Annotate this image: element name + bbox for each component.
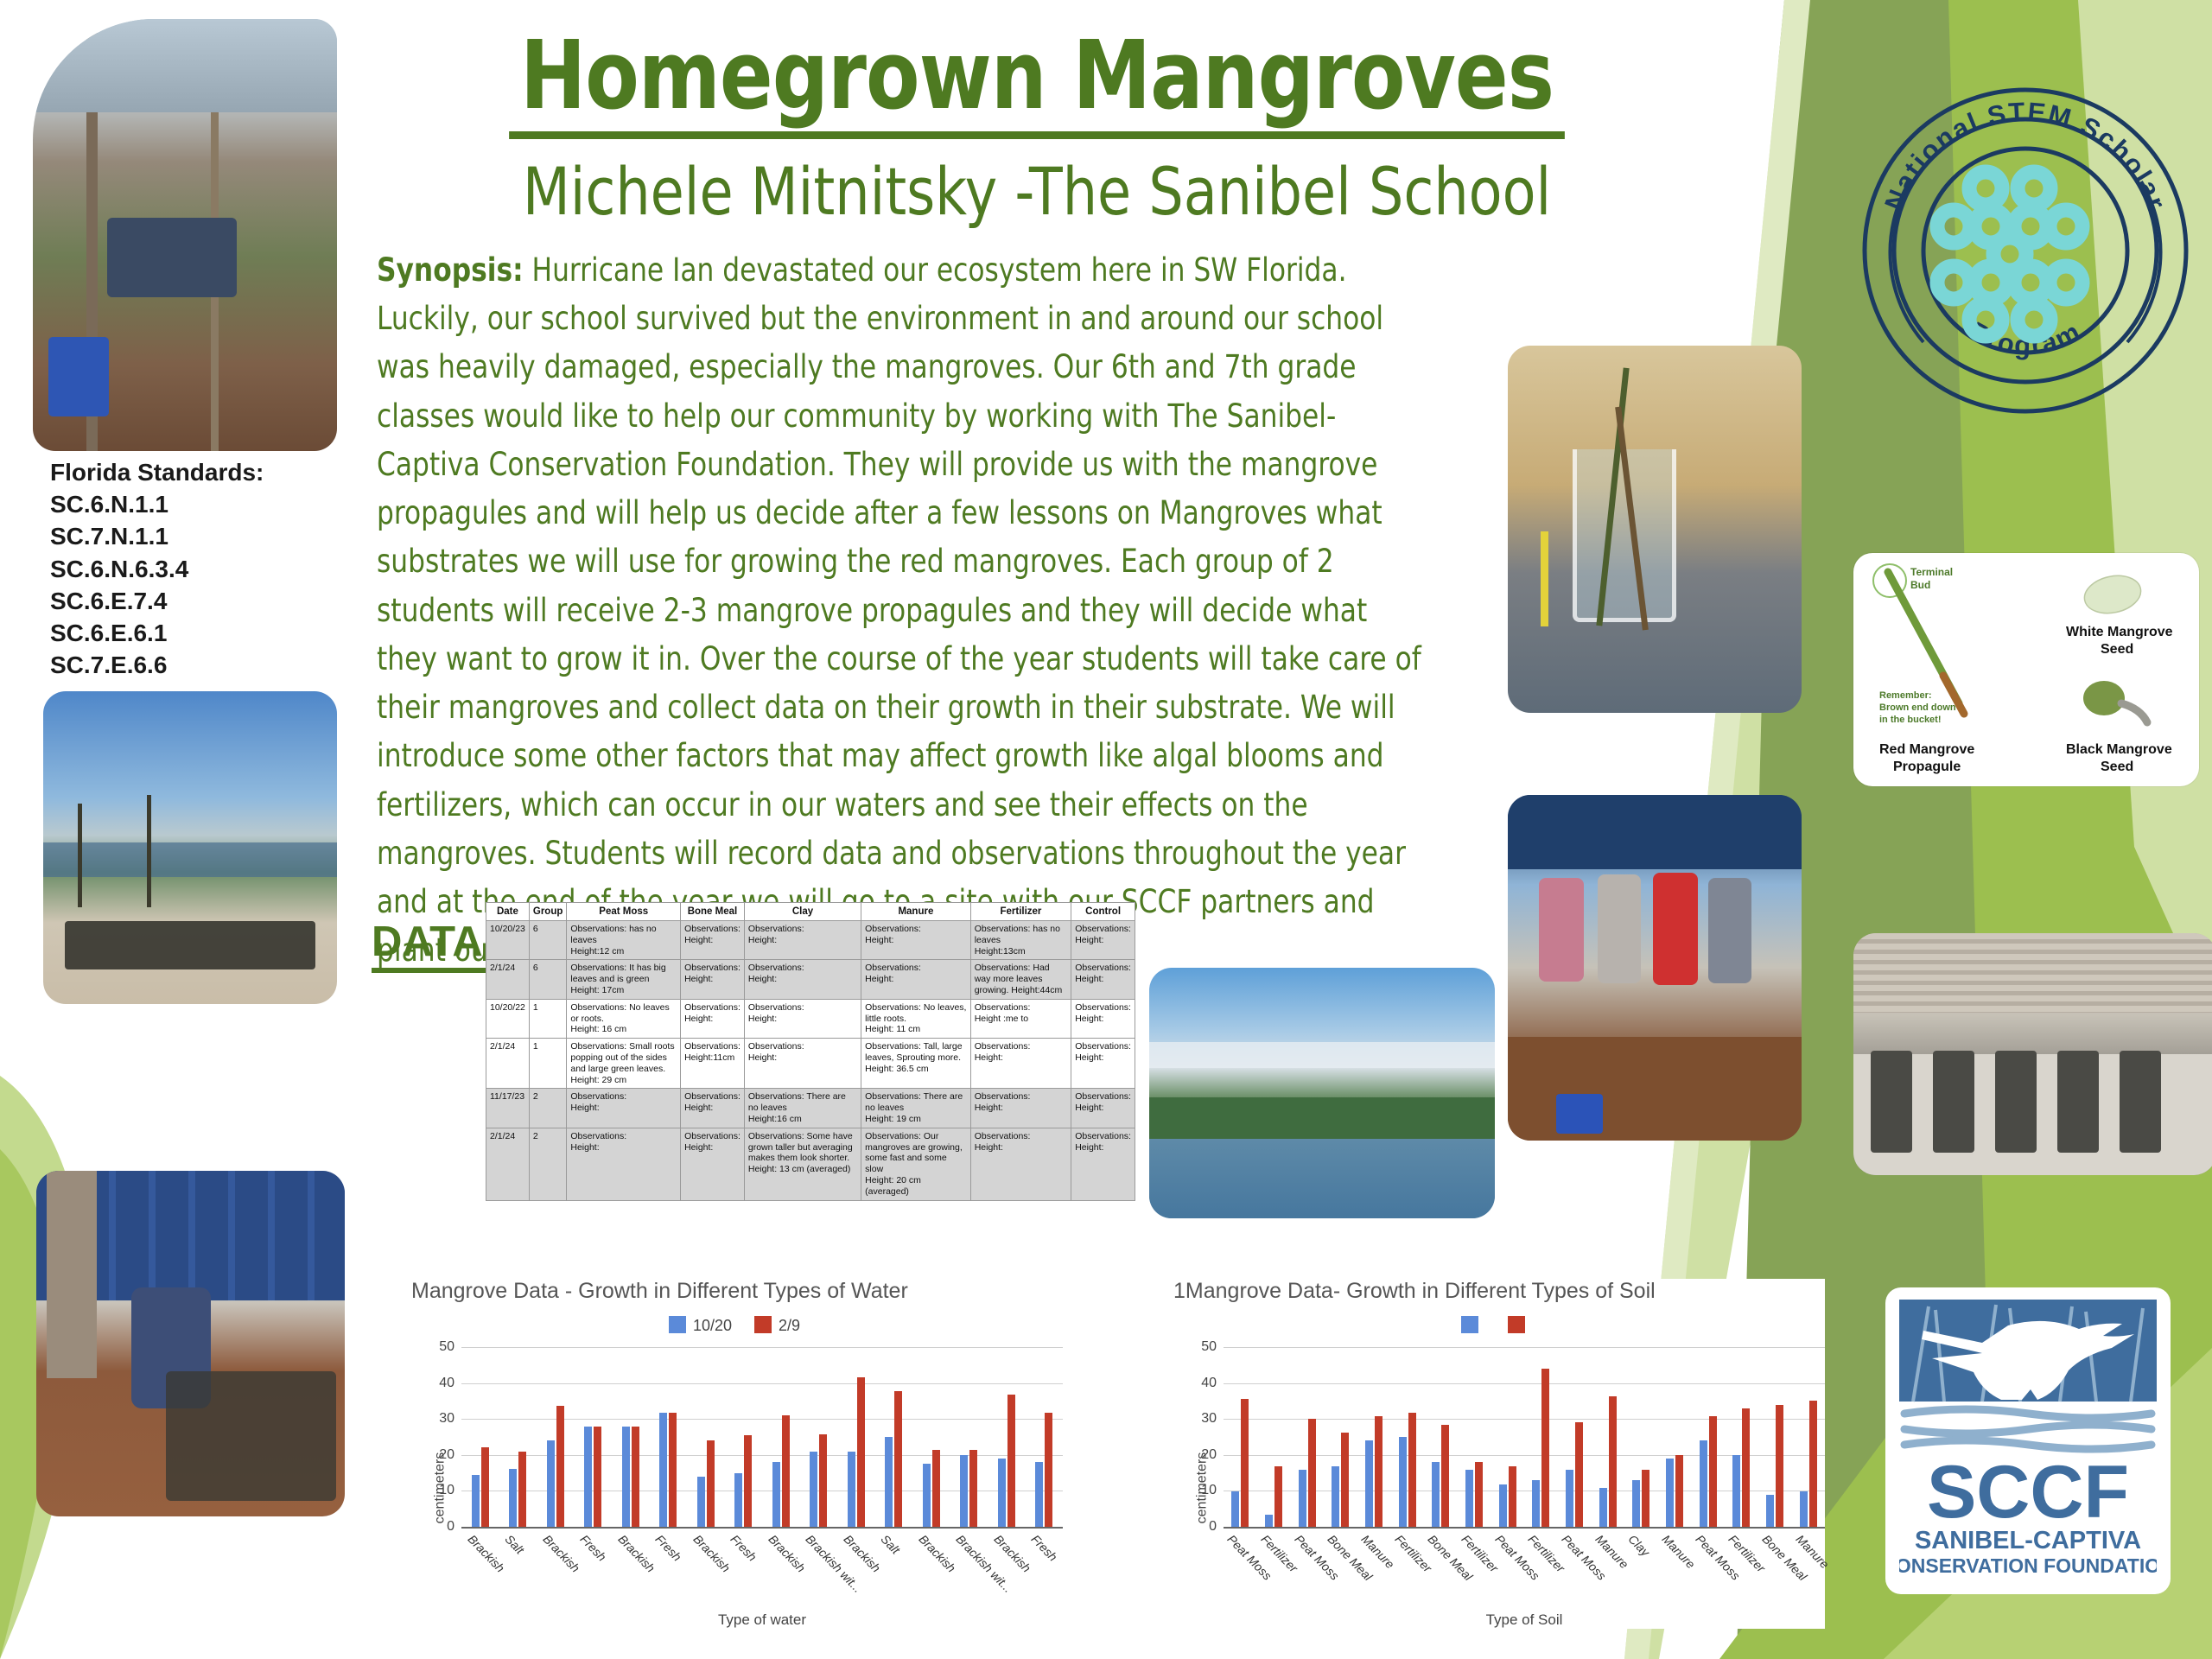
chart-y-tick-label: 10 — [1201, 1483, 1217, 1498]
chart-bar-series2 — [1308, 1419, 1316, 1527]
chart-bar-series1 — [1800, 1491, 1808, 1527]
chart-bar-group — [875, 1347, 913, 1527]
table-cell-fertilizer: Observations:Height: — [970, 1089, 1071, 1128]
table-cell-date: 10/20/23 — [486, 921, 530, 960]
chart-bar-series2 — [669, 1413, 677, 1527]
chart-bar-series1 — [1766, 1495, 1774, 1527]
chart-bar-group — [1324, 1347, 1357, 1527]
chart-bar-series2 — [1809, 1401, 1817, 1527]
chart-bar-series2 — [1776, 1405, 1783, 1527]
standard-item: SC.6.E.7.4 — [50, 585, 335, 617]
table-cell-fertilizer: Observations:Height :me to — [970, 999, 1071, 1038]
table-column-header: Fertilizer — [970, 903, 1071, 921]
chart-bar-group — [1725, 1347, 1758, 1527]
photo-indoor-trays — [1853, 933, 2212, 1175]
chart-bar-series1 — [1566, 1470, 1573, 1527]
table-cell-group: 1 — [529, 1039, 567, 1089]
chart-x-tick-label: Fresh — [728, 1532, 760, 1564]
chart-bar-group — [1424, 1347, 1458, 1527]
black-mangrove-seed-stem — [2121, 703, 2147, 722]
chart-bar-group — [612, 1347, 650, 1527]
legend-item: 2/9 — [754, 1316, 800, 1335]
chart-bar-series2 — [1609, 1396, 1617, 1527]
chart-bar-series2 — [594, 1427, 601, 1527]
chart-bar-group — [1558, 1347, 1592, 1527]
table-cell-date: 10/20/22 — [486, 999, 530, 1038]
chart-bar-series1 — [509, 1469, 517, 1527]
chart-bar-series1 — [1332, 1466, 1339, 1527]
chart-bar-group — [1624, 1347, 1658, 1527]
standard-item: SC.6.N.6.3.4 — [50, 553, 335, 585]
chart-bar-series1 — [1499, 1484, 1507, 1527]
chart-x-tick-label: Salt — [503, 1532, 527, 1556]
chart-bar-group — [1658, 1347, 1692, 1527]
chart-bar-series1 — [1632, 1480, 1640, 1527]
legend-item: 10/20 — [669, 1316, 732, 1335]
black-mangrove-label-line1: Black Mangrove — [2066, 742, 2172, 757]
table-cell-control: Observations:Height: — [1071, 921, 1135, 960]
standard-item: SC.7.N.1.1 — [50, 520, 335, 552]
table-cell-date: 2/1/24 — [486, 1128, 530, 1200]
chart-bar-group — [762, 1347, 800, 1527]
chart-x-tick-label: Brackish — [540, 1532, 582, 1575]
chart-bar-series2 — [969, 1450, 977, 1527]
chart-x-tick-label: Fresh — [653, 1532, 684, 1564]
table-cell-peat-moss: Observations: It has big leaves and is g… — [567, 960, 681, 999]
chart-y-tick-label: 0 — [1209, 1519, 1217, 1535]
chart-x-tick-label: Salt — [879, 1532, 903, 1556]
chart-bar-series1 — [1035, 1462, 1043, 1527]
table-cell-manure: Observations: There are no leavesHeight:… — [861, 1089, 971, 1128]
chart-bar-series1 — [923, 1464, 931, 1527]
logo-molecule-icon — [1937, 172, 2082, 336]
table-row: 11/17/232Observations:Height:Observation… — [486, 1089, 1135, 1128]
legend-swatch-series1 — [669, 1316, 686, 1333]
chart-x-tick-label: Fresh — [578, 1532, 609, 1564]
chart-bar-series1 — [1599, 1488, 1607, 1527]
table-cell-clay: Observations:Height: — [744, 999, 861, 1038]
chart-bar-series1 — [1465, 1470, 1473, 1527]
sccf-line1: SANIBEL-CAPTIVA — [1915, 1527, 2141, 1554]
table-cell-peat-moss: Observations:Height: — [567, 1089, 681, 1128]
chart-x-tick-label: Brackish — [615, 1532, 658, 1575]
chart-bar-group — [499, 1347, 537, 1527]
white-mangrove-label-line2: Seed — [2101, 642, 2133, 657]
chart-bar-series1 — [1399, 1437, 1407, 1527]
chart-y-tick-label: 30 — [439, 1411, 454, 1427]
table-column-header: Control — [1071, 903, 1135, 921]
chart-x-tick-label: Clay — [1626, 1532, 1653, 1559]
chart-bar-series2 — [744, 1435, 752, 1527]
chart-bar-series1 — [810, 1452, 817, 1527]
chart-y-tick-label: 10 — [439, 1483, 454, 1498]
white-mangrove-seed-icon — [2081, 571, 2144, 619]
chart-bar-series1 — [1231, 1491, 1239, 1527]
table-cell-control: Observations:Height: — [1071, 1089, 1135, 1128]
chart-bar-series1 — [622, 1427, 630, 1527]
chart-bar-group — [1390, 1347, 1424, 1527]
table-cell-manure: Observations: Our mangroves are growing,… — [861, 1128, 971, 1200]
chart-bars — [461, 1347, 1063, 1527]
chart-bar-series1 — [472, 1475, 480, 1527]
table-cell-control: Observations:Height: — [1071, 960, 1135, 999]
chart-bar-series2 — [1509, 1466, 1516, 1527]
black-mangrove-label-line2: Seed — [2101, 760, 2133, 774]
red-mangrove-label-line2: Propagule — [1893, 760, 1961, 774]
chart-bar-series1 — [772, 1462, 780, 1527]
legend-swatch-series1 — [1461, 1316, 1478, 1333]
table-cell-manure: Observations:Height: — [861, 960, 971, 999]
table-cell-manure: Observations: No leaves, little roots.He… — [861, 999, 971, 1038]
chart-bar-series2 — [1045, 1413, 1052, 1527]
legend-label-series2: 2/9 — [779, 1317, 800, 1334]
chart-bar-series1 — [1700, 1440, 1707, 1527]
chart-bar-series1 — [697, 1477, 705, 1527]
standard-item: SC.6.E.6.1 — [50, 617, 335, 649]
chart-bar-series2 — [1541, 1369, 1549, 1527]
chart-bar-series2 — [1007, 1395, 1015, 1528]
chart-bar-series2 — [518, 1452, 526, 1527]
observations-table: DateGroupPeat MossBone MealClayManureFer… — [486, 902, 1135, 1201]
table-column-header: Peat Moss — [567, 903, 681, 921]
chart-soil-legend — [1168, 1316, 1825, 1335]
chart-bar-group — [1524, 1347, 1558, 1527]
black-mangrove-seed-icon — [2083, 681, 2125, 715]
chart-bar-group — [1458, 1347, 1491, 1527]
chart-bar-series1 — [584, 1427, 592, 1527]
sccf-wave-lines-icon — [1904, 1409, 2152, 1449]
chart-soil: 1Mangrove Data- Growth in Different Type… — [1168, 1279, 1825, 1629]
table-column-header: Bone Meal — [681, 903, 745, 921]
chart-bar-series2 — [1575, 1422, 1583, 1527]
chart-bar-series1 — [659, 1413, 667, 1527]
chart-bar-group — [800, 1347, 838, 1527]
sccf-logo: SCCF SANIBEL-CAPTIVA CONSERVATION FOUNDA… — [1885, 1287, 2171, 1594]
legend-label-series1: 10/20 — [693, 1317, 732, 1334]
table-cell-control: Observations:Height: — [1071, 1128, 1135, 1200]
chart-bar-series2 — [1241, 1399, 1249, 1528]
chart-bar-series1 — [1299, 1470, 1306, 1527]
legend-swatch-series2 — [1508, 1316, 1525, 1333]
photo-estuary-landscape — [1149, 968, 1495, 1218]
white-mangrove-label-line1: White Mangrove — [2066, 625, 2173, 639]
remember-line3: in the bucket! — [1879, 715, 1942, 725]
chart-y-tick-label: 0 — [447, 1519, 454, 1535]
chart-bar-series2 — [1475, 1462, 1483, 1527]
chart-bar-group — [1224, 1347, 1257, 1527]
chart-bar-series1 — [960, 1455, 968, 1527]
chart-bar-series1 — [848, 1452, 855, 1527]
chart-bar-series2 — [707, 1440, 715, 1527]
remember-line2: Brown end down — [1879, 702, 1956, 713]
photo-students-outside — [1508, 795, 1802, 1141]
table-cell-group: 6 — [529, 960, 567, 999]
chart-bar-group — [1491, 1347, 1524, 1527]
chart-y-tick-label: 30 — [1201, 1411, 1217, 1427]
chart-bar-series2 — [481, 1447, 489, 1527]
table-cell-peat-moss: Observations:Height: — [567, 1128, 681, 1200]
poster-canvas: National STEM Scholar Program Homegrown … — [0, 0, 2212, 1659]
chart-water-plot: 01020304050 — [461, 1347, 1063, 1529]
chart-bar-series2 — [1375, 1416, 1382, 1527]
table-cell-peat-moss: Observations: No leaves or roots.Height:… — [567, 999, 681, 1038]
chart-y-tick-label: 50 — [439, 1339, 454, 1355]
chart-soil-plot-area: centimeters 01020304050 Peat MossFertili… — [1168, 1347, 1825, 1629]
table-cell-bone-meal: Observations:Height:11cm — [681, 1039, 745, 1089]
table-cell-bone-meal: Observations:Height: — [681, 999, 745, 1038]
chart-bar-series2 — [894, 1391, 902, 1527]
table-cell-manure: Observations:Height: — [861, 921, 971, 960]
table-column-header: Date — [486, 903, 530, 921]
chart-bar-series2 — [857, 1377, 865, 1527]
photo-shoreline-mangroves — [43, 691, 337, 1004]
table-cell-clay: Observations: There are no leavesHeight:… — [744, 1089, 861, 1128]
photo-lab-beaker-propagules — [1508, 346, 1802, 713]
table-cell-group: 6 — [529, 921, 567, 960]
table-cell-control: Observations:Height: — [1071, 1039, 1135, 1089]
chart-y-tick-label: 40 — [439, 1376, 454, 1391]
table-cell-bone-meal: Observations:Height: — [681, 1128, 745, 1200]
legend-swatch-series2 — [754, 1316, 772, 1333]
table-cell-date: 2/1/24 — [486, 1039, 530, 1089]
chart-x-tick-label: Brackish — [690, 1532, 733, 1575]
table-column-header: Clay — [744, 903, 861, 921]
chart-bars — [1224, 1347, 1825, 1527]
table-cell-group: 2 — [529, 1089, 567, 1128]
chart-y-tick-label: 20 — [439, 1447, 454, 1463]
chart-bar-group — [912, 1347, 950, 1527]
chart-bar-group — [1357, 1347, 1391, 1527]
mangrove-identification-card: Terminal Bud Remember: Brown end down in… — [1853, 553, 2199, 786]
florida-standards-list: Florida Standards: SC.6.N.1.1 SC.7.N.1.1… — [50, 456, 335, 682]
chart-bar-group — [988, 1347, 1026, 1527]
chart-soil-xlabel: Type of Soil — [1224, 1611, 1825, 1629]
photo-greenhouse-student — [33, 19, 337, 451]
table-cell-group: 2 — [529, 1128, 567, 1200]
chart-bar-series2 — [1441, 1425, 1449, 1527]
chart-water-xlabel: Type of water — [461, 1611, 1063, 1629]
page-subtitle: Michele Mitnitsky -The Sanibel School — [491, 153, 1584, 230]
title-block: Homegrown Mangroves Michele Mitnitsky -T… — [449, 26, 1624, 230]
page-title: Homegrown Mangroves — [509, 26, 1565, 139]
sccf-acronym: SCCF — [1927, 1451, 2129, 1534]
chart-bar-series1 — [547, 1440, 555, 1527]
chart-bar-series1 — [734, 1473, 742, 1527]
chart-bar-series2 — [556, 1406, 564, 1527]
chart-bar-group — [687, 1347, 725, 1527]
chart-bar-series1 — [1265, 1515, 1273, 1527]
standard-item: SC.6.N.1.1 — [50, 488, 335, 520]
table-row: 10/20/236Observations: has no leavesHeig… — [486, 921, 1135, 960]
chart-bar-group — [537, 1347, 575, 1527]
table-row: 2/1/242Observations:Height:Observations:… — [486, 1128, 1135, 1200]
chart-y-tick-label: 40 — [1201, 1376, 1217, 1391]
national-stem-scholar-logo: National STEM Scholar Program — [1856, 35, 2195, 441]
chart-bar-series2 — [1408, 1413, 1416, 1527]
terminal-bud-label-line1: Terminal — [1910, 566, 1953, 578]
chart-bar-group — [1591, 1347, 1624, 1527]
data-section-label: DATA: — [372, 918, 497, 973]
chart-bar-series2 — [1341, 1433, 1349, 1527]
standards-heading: Florida Standards: — [50, 456, 335, 488]
table-row: 2/1/246Observations: It has big leaves a… — [486, 960, 1135, 999]
synopsis-label: Synopsis: — [377, 251, 524, 289]
chart-x-tick-label: Manure — [1659, 1532, 1697, 1571]
table-cell-fertilizer: Observations:Height: — [970, 1039, 1071, 1089]
chart-bar-series2 — [932, 1450, 940, 1527]
standard-item: SC.7.E.6.6 — [50, 649, 335, 681]
table-cell-bone-meal: Observations:Height: — [681, 921, 745, 960]
chart-water-xlabels: BrackishSaltBrackishFreshBrackishFreshBr… — [461, 1529, 1063, 1611]
chart-x-tick-label: Fresh — [1029, 1532, 1060, 1564]
chart-soil-plot: 01020304050 — [1224, 1347, 1825, 1529]
table-cell-clay: Observations: Some have grown taller but… — [744, 1128, 861, 1200]
table-cell-group: 1 — [529, 999, 567, 1038]
chart-bar-series2 — [1709, 1416, 1717, 1527]
table-cell-fertilizer: Observations: Had way more leaves growin… — [970, 960, 1071, 999]
chart-bar-group — [950, 1347, 988, 1527]
chart-bar-series2 — [819, 1434, 827, 1527]
chart-bar-series2 — [1675, 1455, 1683, 1527]
chart-y-tick-label: 20 — [1201, 1447, 1217, 1463]
chart-bar-series1 — [1532, 1480, 1540, 1527]
table-row: 2/1/241Observations: Small roots popping… — [486, 1039, 1135, 1089]
chart-bar-series1 — [885, 1437, 893, 1527]
sccf-line2: CONSERVATION FOUNDATION — [1899, 1554, 2157, 1577]
chart-water-plot-area: centimeters 01020304050 BrackishSaltBrac… — [406, 1347, 1063, 1629]
chart-bar-group — [1026, 1347, 1064, 1527]
chart-y-tick-label: 50 — [1201, 1339, 1217, 1355]
chart-bar-group — [461, 1347, 499, 1527]
chart-bar-group — [575, 1347, 613, 1527]
table-cell-clay: Observations:Height: — [744, 921, 861, 960]
chart-water-legend: 10/20 2/9 — [406, 1316, 1063, 1335]
table-column-header: Group — [529, 903, 567, 921]
chart-bar-series2 — [632, 1427, 639, 1527]
chart-bar-group — [1691, 1347, 1725, 1527]
chart-bar-series1 — [1365, 1440, 1373, 1527]
table-cell-peat-moss: Observations: has no leavesHeight:12 cm — [567, 921, 681, 960]
chart-soil-title: 1Mangrove Data- Growth in Different Type… — [1173, 1279, 1825, 1304]
red-mangrove-label-line1: Red Mangrove — [1879, 742, 1974, 757]
table-cell-fertilizer: Observations: has no leavesHeight:13cm — [970, 921, 1071, 960]
chart-bar-group — [725, 1347, 763, 1527]
table-header-row: DateGroupPeat MossBone MealClayManureFer… — [486, 903, 1135, 921]
photo-student-planting — [36, 1171, 345, 1516]
table-cell-clay: Observations:Height: — [744, 960, 861, 999]
legend-item — [1461, 1316, 1485, 1335]
chart-bar-series1 — [998, 1459, 1006, 1527]
chart-x-tick-label: Brackish — [916, 1532, 958, 1575]
synopsis-body: Hurricane Ian devastated our ecosystem h… — [377, 251, 1421, 969]
legend-item — [1508, 1316, 1532, 1335]
chart-bar-group — [1257, 1347, 1291, 1527]
chart-bar-series1 — [1432, 1462, 1440, 1527]
chart-water-title: Mangrove Data - Growth in Different Type… — [411, 1279, 1063, 1304]
remember-line1: Remember: — [1879, 690, 1932, 701]
table-cell-bone-meal: Observations:Height: — [681, 1089, 745, 1128]
chart-bar-series2 — [782, 1415, 790, 1527]
chart-bar-group — [1791, 1347, 1825, 1527]
chart-bar-group — [650, 1347, 688, 1527]
table-cell-clay: Observations:Height: — [744, 1039, 861, 1089]
chart-bar-series1 — [1732, 1455, 1740, 1527]
table-cell-date: 11/17/23 — [486, 1089, 530, 1128]
table-cell-control: Observations:Height: — [1071, 999, 1135, 1038]
table-cell-fertilizer: Observations:Height: — [970, 1128, 1071, 1200]
terminal-bud-label-line2: Bud — [1910, 579, 1930, 591]
chart-water: Mangrove Data - Growth in Different Type… — [406, 1279, 1063, 1629]
chart-bar-group — [1290, 1347, 1324, 1527]
table-cell-bone-meal: Observations:Height: — [681, 960, 745, 999]
table-cell-manure: Observations: Tall, large leaves, Sprout… — [861, 1039, 971, 1089]
table-column-header: Manure — [861, 903, 971, 921]
table-row: 10/20/221Observations: No leaves or root… — [486, 999, 1135, 1038]
chart-bar-series2 — [1742, 1408, 1750, 1527]
chart-bar-group — [1758, 1347, 1792, 1527]
chart-bar-series2 — [1642, 1470, 1649, 1527]
chart-x-tick-label: Brackish — [766, 1532, 808, 1575]
table-cell-peat-moss: Observations: Small roots popping out of… — [567, 1039, 681, 1089]
chart-bar-group — [837, 1347, 875, 1527]
chart-bar-series2 — [1274, 1466, 1282, 1527]
chart-bar-series1 — [1666, 1459, 1674, 1527]
table-cell-date: 2/1/24 — [486, 960, 530, 999]
chart-x-tick-label: Brackish — [465, 1532, 507, 1575]
synopsis-paragraph: Synopsis: Hurricane Ian devastated our e… — [377, 246, 1425, 976]
chart-soil-xlabels: Peat MossFertilizerPeat MossBone MealMan… — [1224, 1529, 1825, 1611]
